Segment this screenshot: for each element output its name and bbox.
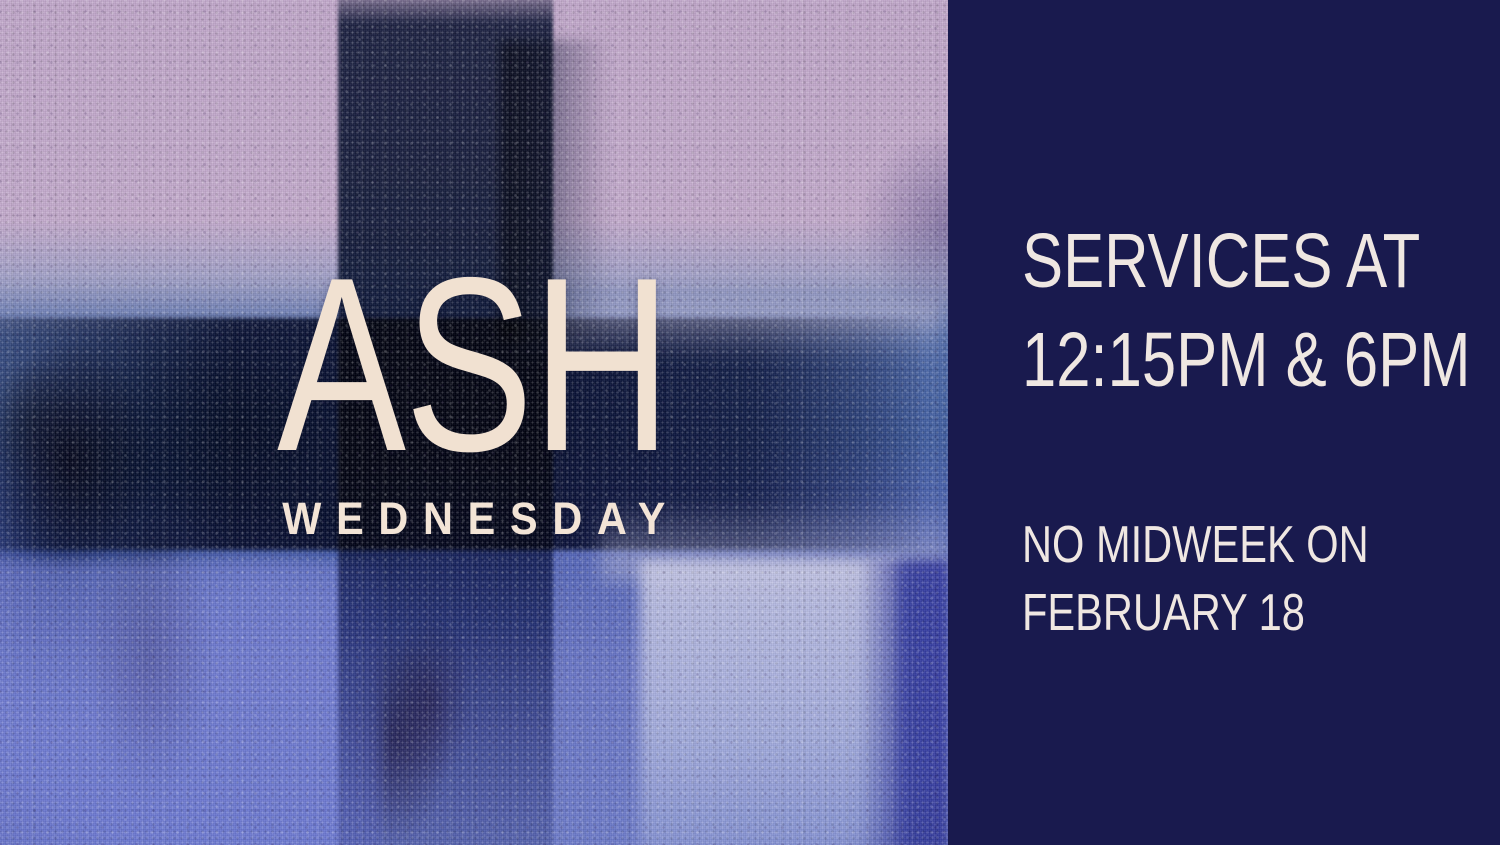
artwork-right-upper-shade (828, 120, 948, 330)
painted-cross-artwork: ASH WEDNESDAY (0, 0, 948, 845)
artwork-right-dark-strip (858, 560, 948, 845)
artwork-lower-left-field (0, 560, 380, 845)
midweek-notice-block: NO MIDWEEK ON FEBRUARY 18 (1022, 512, 1455, 647)
cross-stem-edge (500, 40, 610, 340)
ash-wednesday-slide: ASH WEDNESDAY SERVICES AT 12:15PM & 6PM … (0, 0, 1500, 845)
midweek-notice-line-1: NO MIDWEEK ON (1022, 512, 1369, 580)
midweek-notice-line-2: FEBRUARY 18 (1022, 580, 1369, 648)
service-times-line-2: 12:15PM & 6PM (1022, 311, 1471, 410)
service-times-line-1: SERVICES AT (1022, 212, 1471, 311)
service-times-block: SERVICES AT 12:15PM & 6PM (1022, 212, 1500, 409)
info-panel: SERVICES AT 12:15PM & 6PM NO MIDWEEK ON … (948, 0, 1500, 845)
